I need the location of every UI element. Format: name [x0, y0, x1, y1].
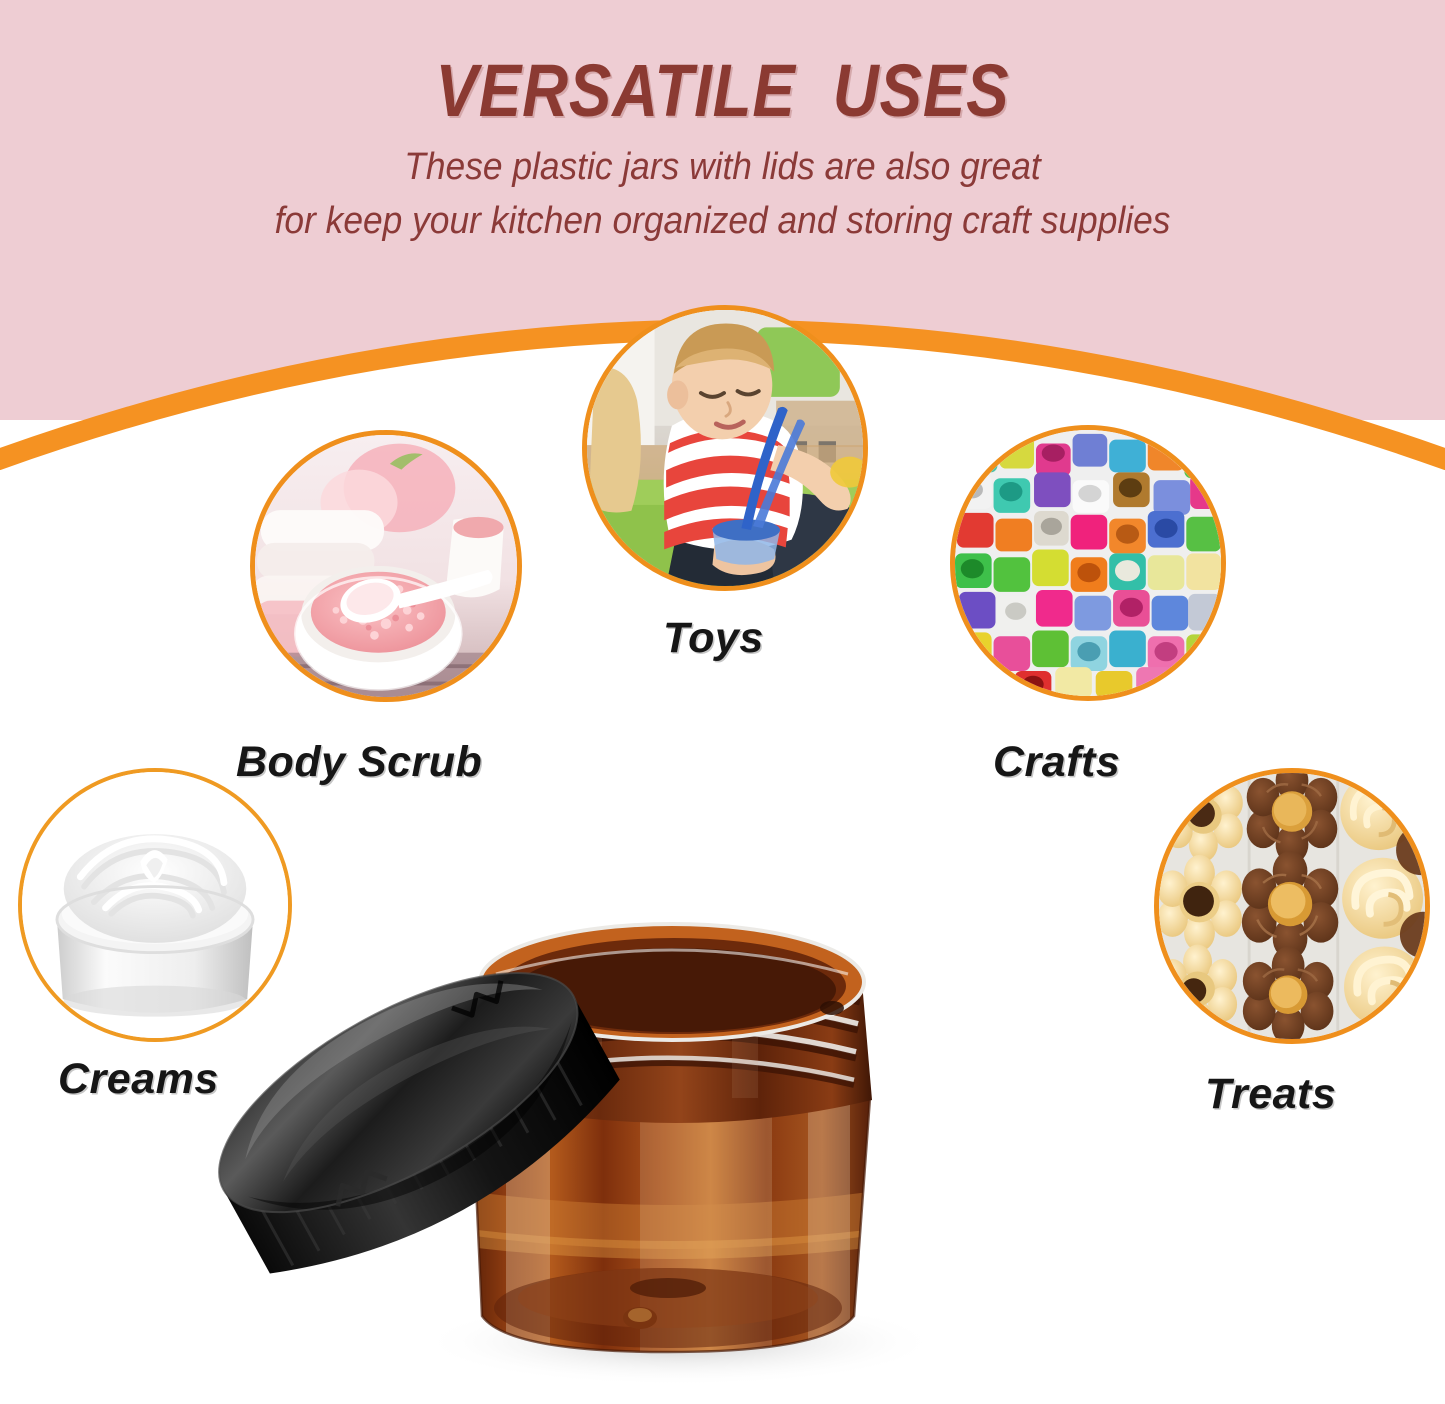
use-case-label-crafts: Crafts — [993, 738, 1120, 787]
subtitle-line-2: for keep your kitchen organized and stor… — [51, 200, 1395, 243]
infographic-canvas: VERSATILE USES These plastic jars with l… — [0, 0, 1445, 1404]
crafts-photo — [955, 430, 1221, 696]
use-case-circle-body-scrub — [250, 430, 522, 702]
toys-photo — [587, 310, 863, 586]
subtitle-line-1: These plastic jars with lids are also gr… — [51, 146, 1395, 189]
product-image-amber-jar-with-black-lid — [120, 890, 1130, 1404]
page-title: VERSATILE USES — [101, 48, 1344, 133]
use-case-circle-toys — [582, 305, 868, 591]
use-case-label-treats: Treats — [1205, 1070, 1336, 1119]
use-case-circle-crafts — [950, 425, 1226, 701]
body-scrub-photo — [255, 435, 517, 697]
treats-photo — [1159, 773, 1425, 1039]
use-case-circle-treats — [1154, 768, 1430, 1044]
use-case-label-toys: Toys — [663, 614, 764, 663]
